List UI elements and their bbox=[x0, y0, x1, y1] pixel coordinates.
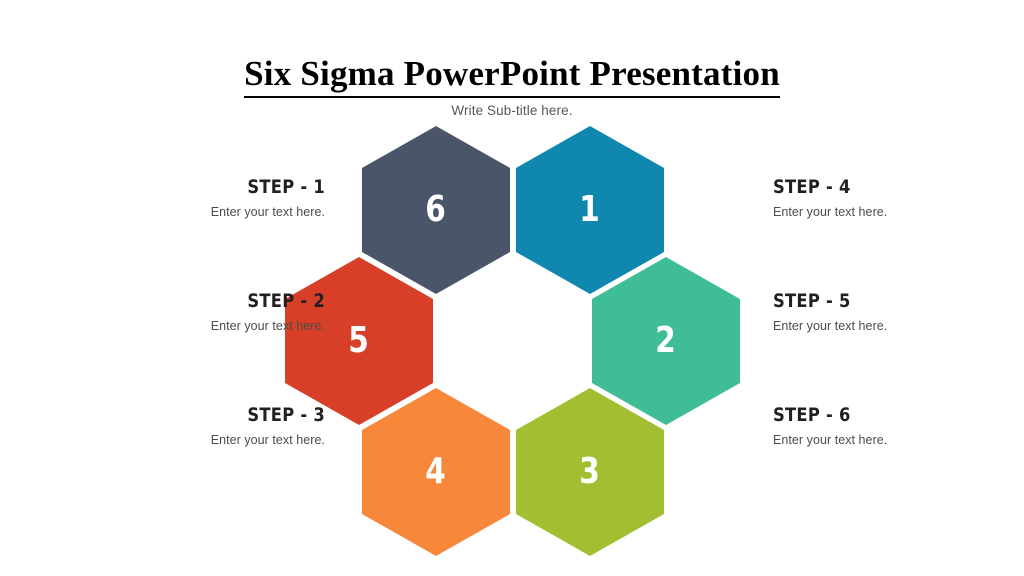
hexagon-cluster: 6 1 5 2 4 3 bbox=[0, 0, 1024, 576]
hexagon-3[interactable]: 3 bbox=[516, 388, 664, 556]
step-item-2[interactable]: STEP - 2 Enter your text here. bbox=[95, 290, 325, 334]
hexagon-4-number: 4 bbox=[426, 454, 447, 490]
hexagon-2-number: 2 bbox=[656, 323, 677, 359]
step-2-description: Enter your text here. bbox=[95, 318, 325, 334]
step-6-title: STEP - 6 bbox=[773, 404, 971, 426]
hexagon-2[interactable]: 2 bbox=[592, 257, 740, 425]
step-4-title: STEP - 4 bbox=[773, 176, 971, 198]
step-item-4[interactable]: STEP - 4 Enter your text here. bbox=[773, 176, 1003, 220]
hexagon-1-number: 1 bbox=[580, 192, 601, 228]
hexagon-1[interactable]: 1 bbox=[516, 126, 664, 294]
step-1-description: Enter your text here. bbox=[95, 204, 325, 220]
step-3-title: STEP - 3 bbox=[127, 404, 325, 426]
step-5-description: Enter your text here. bbox=[773, 318, 1003, 334]
hexagon-6[interactable]: 6 bbox=[362, 126, 510, 294]
hexagon-4[interactable]: 4 bbox=[362, 388, 510, 556]
step-1-title: STEP - 1 bbox=[127, 176, 325, 198]
step-6-description: Enter your text here. bbox=[773, 432, 1003, 448]
step-item-6[interactable]: STEP - 6 Enter your text here. bbox=[773, 404, 1003, 448]
hexagon-3-number: 3 bbox=[580, 454, 601, 490]
hexagon-5[interactable]: 5 bbox=[285, 257, 433, 425]
step-item-1[interactable]: STEP - 1 Enter your text here. bbox=[95, 176, 325, 220]
step-2-title: STEP - 2 bbox=[127, 290, 325, 312]
step-item-3[interactable]: STEP - 3 Enter your text here. bbox=[95, 404, 325, 448]
presentation-slide: Six Sigma PowerPoint Presentation Write … bbox=[0, 0, 1024, 576]
step-5-title: STEP - 5 bbox=[773, 290, 971, 312]
step-4-description: Enter your text here. bbox=[773, 204, 1003, 220]
step-item-5[interactable]: STEP - 5 Enter your text here. bbox=[773, 290, 1003, 334]
hexagon-6-number: 6 bbox=[426, 192, 447, 228]
hexagon-5-number: 5 bbox=[349, 323, 370, 359]
step-3-description: Enter your text here. bbox=[95, 432, 325, 448]
